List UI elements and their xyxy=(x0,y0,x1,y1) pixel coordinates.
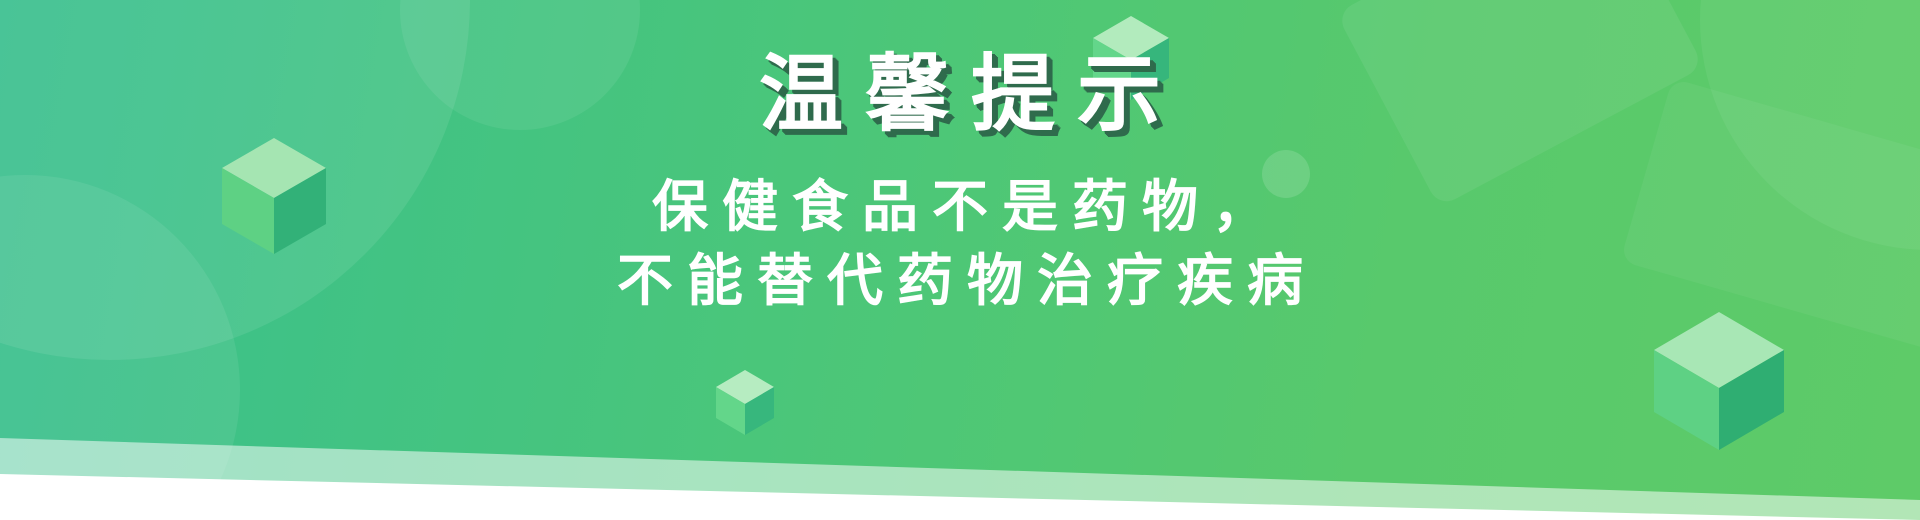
subtitle-block: 保健食品不是药物， 不能替代药物治疗疾病 xyxy=(603,170,1317,318)
banner-content: 温馨提示 保健食品不是药物， 不能替代药物治疗疾病 xyxy=(0,0,1920,520)
subtitle-line-1: 保健食品不是药物， xyxy=(603,170,1317,244)
subtitle-line-2: 不能替代药物治疗疾病 xyxy=(603,244,1317,318)
tips-banner: 温馨提示 保健食品不是药物， 不能替代药物治疗疾病 xyxy=(0,0,1920,520)
page-title: 温馨提示 xyxy=(737,52,1183,136)
